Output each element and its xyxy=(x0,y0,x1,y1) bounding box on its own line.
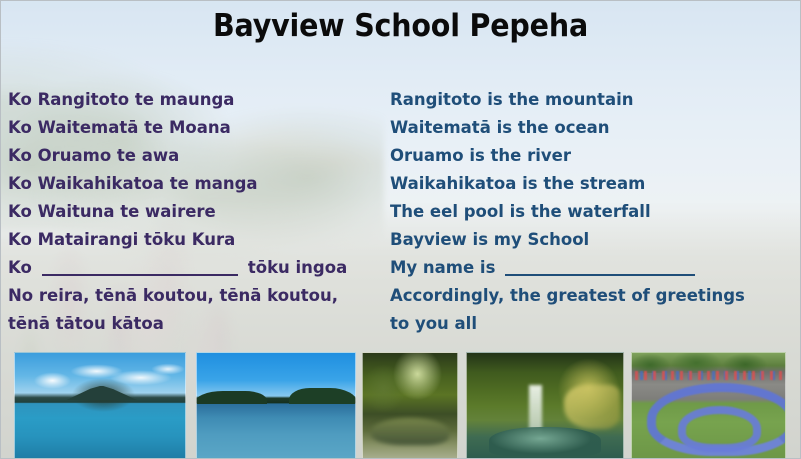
translation-line: Bayview is my School xyxy=(390,226,800,254)
pepeha-line: Ko Waituna te wairere xyxy=(8,198,390,226)
photo-manga xyxy=(362,352,458,459)
name-blank-rule[interactable] xyxy=(42,274,238,276)
koru-spiral-inner xyxy=(678,406,761,451)
photo-kura xyxy=(631,352,786,459)
photo-wairere xyxy=(466,352,624,459)
name-line-prefix: My name is xyxy=(390,254,495,282)
photo-oruamo-awa xyxy=(196,352,356,459)
river-bank-right xyxy=(289,388,356,405)
eel-pool xyxy=(489,427,601,456)
stream-pool xyxy=(371,418,450,445)
pepeha-name-line: Ko tōku ingoa xyxy=(8,254,390,282)
translation-line: The eel pool is the waterfall xyxy=(390,198,800,226)
translation-name-line: My name is xyxy=(390,254,800,282)
pepeha-closing-line: tēnā tātou kātoa xyxy=(8,310,390,338)
name-line-suffix: tōku ingoa xyxy=(248,254,347,282)
maori-text-column: Ko Rangitoto te maunga Ko Waitematā te M… xyxy=(8,86,390,338)
translation-line: Waikahikatoa is the stream xyxy=(390,170,800,198)
english-text-column: Rangitoto is the mountain Waitematā is t… xyxy=(390,86,800,338)
waterfall-flow xyxy=(529,385,541,433)
pepeha-closing-line: No reira, tēnā koutou, tēnā koutou, xyxy=(8,282,390,310)
translation-line: Rangitoto is the mountain xyxy=(390,86,800,114)
river-bank-left xyxy=(196,391,267,405)
photo-strip xyxy=(0,348,801,459)
translation-line: Waitematā is the ocean xyxy=(390,114,800,142)
pepeha-line: Ko Waitematā te Moana xyxy=(8,114,390,142)
waterfall-rock xyxy=(564,385,620,429)
pepeha-line: Ko Oruamo te awa xyxy=(8,142,390,170)
name-blank-rule[interactable] xyxy=(505,274,695,276)
school-children xyxy=(635,371,782,380)
translation-line: Oruamo is the river xyxy=(390,142,800,170)
pepeha-line: Ko Rangitoto te maunga xyxy=(8,86,390,114)
pepeha-slide: Bayview School Pepeha Ko Rangitoto te ma… xyxy=(0,0,801,459)
name-line-prefix: Ko xyxy=(8,254,32,282)
pepeha-line: Ko Matairangi tōku Kura xyxy=(8,226,390,254)
pepeha-line: Ko Waikahikatoa te manga xyxy=(8,170,390,198)
photo-rangitoto xyxy=(14,352,186,459)
translation-closing-line: Accordingly, the greatest of greetings xyxy=(390,282,800,310)
translation-closing-line: to you all xyxy=(390,310,800,338)
page-title: Bayview School Pepeha xyxy=(32,8,769,44)
